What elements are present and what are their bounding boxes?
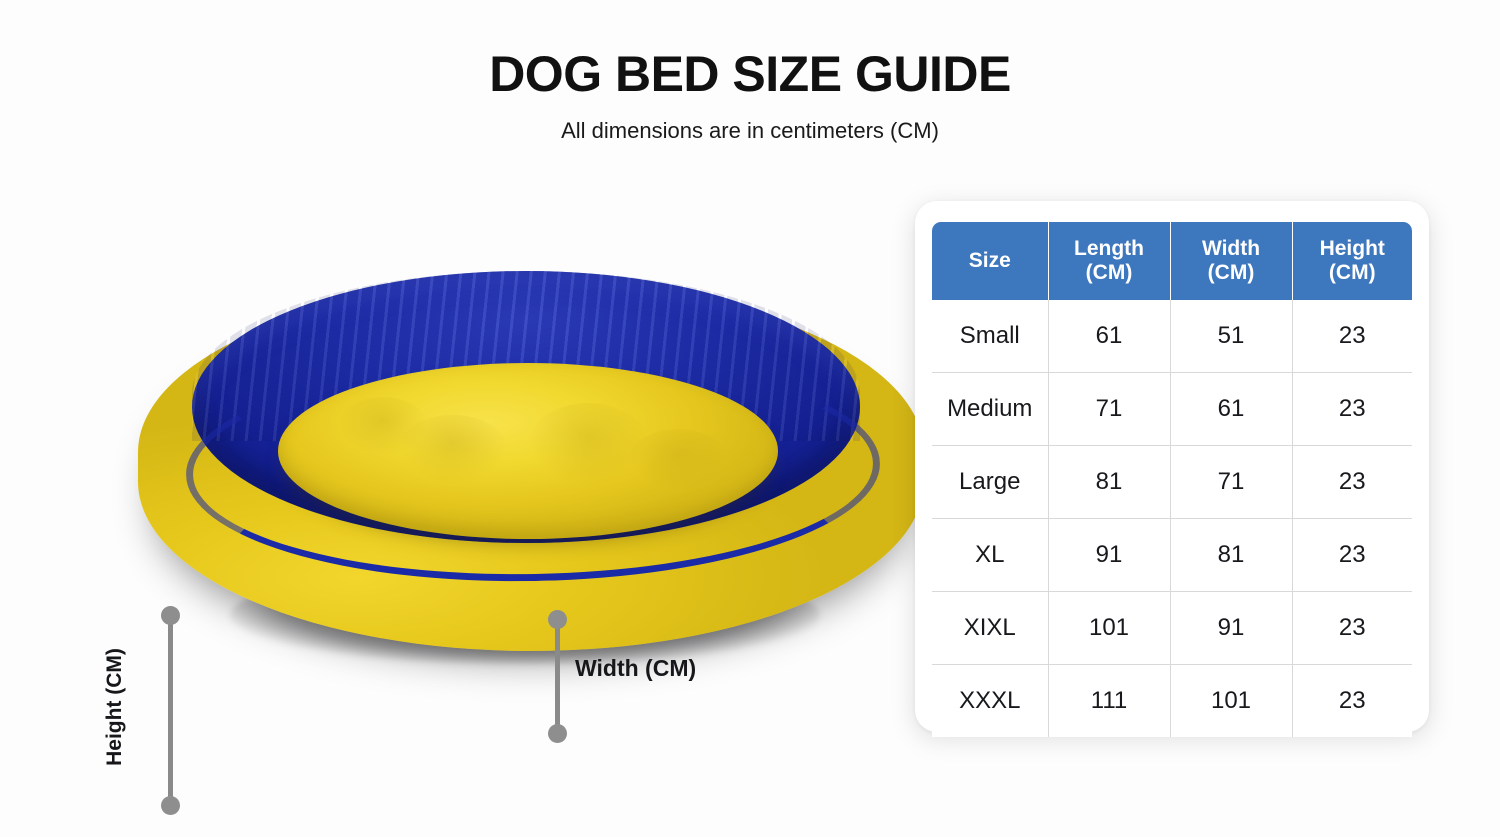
column-header-length-line1: Length [1074,237,1144,260]
column-header-length-line2: (CM) [1086,261,1133,284]
bed-cushion [278,363,778,539]
column-header-height-line2: (CM) [1329,261,1376,284]
size-cell: XL [932,519,1048,592]
length-cell: 111 [1048,665,1170,738]
column-header-size: Size [932,222,1048,300]
table-row: Large817123 [932,446,1412,519]
width-cell: 81 [1170,519,1292,592]
cushion-tuft [338,397,428,457]
length-cell: 91 [1048,519,1170,592]
column-header-width-line1: Width [1202,237,1260,260]
height-measure-line [168,623,173,799]
height-cell: 23 [1292,373,1412,446]
height-cell: 23 [1292,446,1412,519]
height-cell: 23 [1292,592,1412,665]
size-cell: Large [932,446,1048,519]
table-header-row: Size Length(CM) Width(CM) Height(CM) [932,222,1412,300]
width-endpoint-dot-bottom [548,724,567,743]
size-cell: Small [932,300,1048,373]
column-header-length: Length(CM) [1048,222,1170,300]
product-illustration: Height (CM) Length (CM) Width (CM) [60,230,900,760]
column-header-width-line2: (CM) [1208,261,1255,284]
width-cell: 101 [1170,665,1292,738]
cushion-tuft [628,429,728,491]
size-guide-page: DOG BED SIZE GUIDE All dimensions are in… [0,0,1500,837]
page-title: DOG BED SIZE GUIDE [0,48,1500,101]
height-cell: 23 [1292,300,1412,373]
size-table-body: Small615123Medium716123Large817123XL9181… [932,300,1412,737]
cushion-tuft [528,403,648,487]
height-dimension-label: Height (CM) [103,648,127,766]
size-cell: Medium [932,373,1048,446]
length-cell: 71 [1048,373,1170,446]
size-table: Size Length(CM) Width(CM) Height(CM) Sma… [932,222,1412,737]
width-endpoint-dot-top [548,610,567,629]
height-endpoint-dot-top [161,606,180,625]
table-row: Small615123 [932,300,1412,373]
page-subtitle: All dimensions are in centimeters (CM) [0,118,1500,144]
length-cell: 101 [1048,592,1170,665]
width-measure-line [555,622,560,730]
height-endpoint-dot-bottom [161,796,180,815]
column-header-size-label: Size [969,249,1011,272]
width-cell: 91 [1170,592,1292,665]
column-header-width: Width(CM) [1170,222,1292,300]
table-row: XXXL11110123 [932,665,1412,738]
width-cell: 61 [1170,373,1292,446]
size-cell: XXXL [932,665,1048,738]
table-row: Medium716123 [932,373,1412,446]
length-cell: 81 [1048,446,1170,519]
table-row: XIXL1019123 [932,592,1412,665]
height-cell: 23 [1292,519,1412,592]
size-cell: XIXL [932,592,1048,665]
size-table-card: Size Length(CM) Width(CM) Height(CM) Sma… [915,201,1429,732]
width-cell: 71 [1170,446,1292,519]
width-cell: 51 [1170,300,1292,373]
column-header-height-line1: Height [1320,237,1385,260]
width-dimension-label: Width (CM) [575,655,696,682]
table-row: XL918123 [932,519,1412,592]
dog-bed-photo [120,265,930,665]
height-cell: 23 [1292,665,1412,738]
length-cell: 61 [1048,300,1170,373]
column-header-height: Height(CM) [1292,222,1412,300]
size-table-header: Size Length(CM) Width(CM) Height(CM) [932,222,1412,300]
